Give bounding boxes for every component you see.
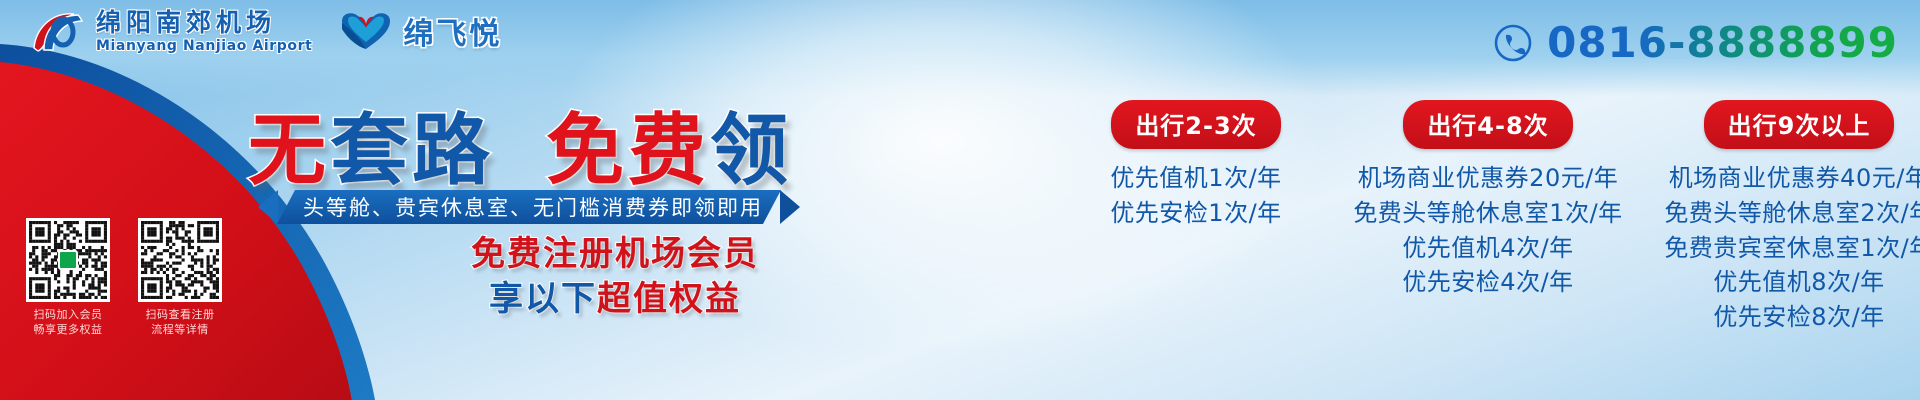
qr-caption-line-2: 畅享更多权益: [26, 323, 110, 338]
logo-row: 绵阳南郊机场 Mianyang Nanjiao Airport 绵飞悦: [30, 8, 502, 54]
headline-ling: 领: [710, 88, 792, 200]
cta-line-2-red: 超值权益: [597, 279, 741, 319]
call-to-action: 免费注册机场会员 享以下超值权益: [400, 232, 830, 322]
qr-caption-line-1: 扫码查看注册: [138, 308, 222, 323]
tier-benefit-list: 机场商业优惠券40元/年 免费头等舱休息室2次/年 免费贵宾室休息室1次/年 优…: [1634, 161, 1920, 335]
airport-logo[interactable]: 绵阳南郊机场 Mianyang Nanjiao Airport: [30, 8, 312, 54]
cta-line-2-blue: 享以下: [489, 279, 597, 319]
headline-part-1: 无 套路: [248, 88, 494, 200]
tier-benefit-item: 机场商业优惠券20元/年: [1342, 161, 1634, 196]
brand-logo[interactable]: 绵飞悦: [338, 9, 502, 53]
headline-taolu: 套路: [330, 88, 494, 200]
tier-benefit-item: 优先安检4次/年: [1342, 265, 1634, 300]
tier-benefit-item: 优先值机1次/年: [1050, 161, 1342, 196]
tier-benefit-list: 优先值机1次/年 优先安检1次/年: [1050, 161, 1342, 231]
tier-benefit-item: 优先安检1次/年: [1050, 196, 1342, 231]
airport-name-cn: 绵阳南郊机场: [96, 10, 312, 35]
tier-column-3: 出行9次以上 机场商业优惠券40元/年 免费头等舱休息室2次/年 免费贵宾室休息…: [1634, 100, 1920, 335]
qr-code-icon[interactable]: [26, 218, 110, 302]
qr-caption: 扫码查看注册 流程等详情: [138, 308, 222, 338]
ribbon-left-arrow-icon: [258, 190, 278, 224]
tier-benefit-item: 机场商业优惠券40元/年: [1634, 161, 1920, 196]
tier-benefit-item: 优先安检8次/年: [1634, 300, 1920, 335]
tier-benefit-list: 机场商业优惠券20元/年 免费头等舱休息室1次/年 优先值机4次/年 优先安检4…: [1342, 161, 1634, 300]
tier-badge: 出行9次以上: [1704, 100, 1895, 149]
brand-name: 绵飞悦: [403, 9, 502, 53]
qr-code-icon[interactable]: [138, 218, 222, 302]
qr-caption-line-2: 流程等详情: [138, 323, 222, 338]
tier-benefit-item: 优先值机8次/年: [1634, 265, 1920, 300]
qr-caption: 扫码加入会员 畅享更多权益: [26, 308, 110, 338]
cta-line-1: 免费注册机场会员: [400, 232, 830, 277]
airport-swoosh-mark-icon: [30, 8, 86, 54]
phone-icon: [1493, 23, 1533, 63]
headline-wu: 无: [248, 88, 330, 200]
promo-banner: 绵阳南郊机场 Mianyang Nanjiao Airport 绵飞悦: [0, 0, 1920, 400]
tier-column-2: 出行4-8次 机场商业优惠券20元/年 免费头等舱休息室1次/年 优先值机4次/…: [1342, 100, 1634, 335]
heart-wing-logo-icon: [338, 11, 394, 51]
tier-columns: 出行2-3次 优先值机1次/年 优先安检1次/年 出行4-8次 机场商业优惠券2…: [1050, 100, 1920, 335]
ribbon-right-arrow-icon: [780, 190, 800, 224]
subtitle-ribbon: 头等舱、贵宾休息室、无门槛消费券即领即用: [258, 190, 800, 224]
qr-block-membership[interactable]: 扫码加入会员 畅享更多权益: [26, 218, 110, 338]
tier-benefit-item: 免费头等舱休息室2次/年: [1634, 196, 1920, 231]
cta-line-2: 享以下超值权益: [400, 277, 830, 322]
qr-center-logo-icon: [58, 250, 78, 270]
phone-number: 0816-8888899: [1547, 18, 1898, 67]
ribbon-text: 头等舱、贵宾休息室、无门槛消费券即领即用: [277, 190, 781, 224]
tier-benefit-item: 免费头等舱休息室1次/年: [1342, 196, 1634, 231]
tier-benefit-item: 优先值机4次/年: [1342, 231, 1634, 266]
tier-badge: 出行2-3次: [1111, 100, 1280, 149]
phone-contact[interactable]: 0816-8888899: [1493, 18, 1898, 67]
airport-name-en: Mianyang Nanjiao Airport: [96, 39, 312, 53]
headline-mianfei: 免费: [546, 88, 710, 200]
qr-caption-line-1: 扫码加入会员: [26, 308, 110, 323]
tier-badge: 出行4-8次: [1403, 100, 1572, 149]
tier-benefit-item: 免费贵宾室休息室1次/年: [1634, 231, 1920, 266]
headline: 无 套路 免费 领: [248, 88, 792, 200]
qr-code-group: 扫码加入会员 畅享更多权益 扫码查看注册 流程等详情: [26, 218, 222, 338]
headline-part-2: 免费 领: [546, 88, 792, 200]
tier-column-1: 出行2-3次 优先值机1次/年 优先安检1次/年: [1050, 100, 1342, 335]
qr-block-registration[interactable]: 扫码查看注册 流程等详情: [138, 218, 222, 338]
